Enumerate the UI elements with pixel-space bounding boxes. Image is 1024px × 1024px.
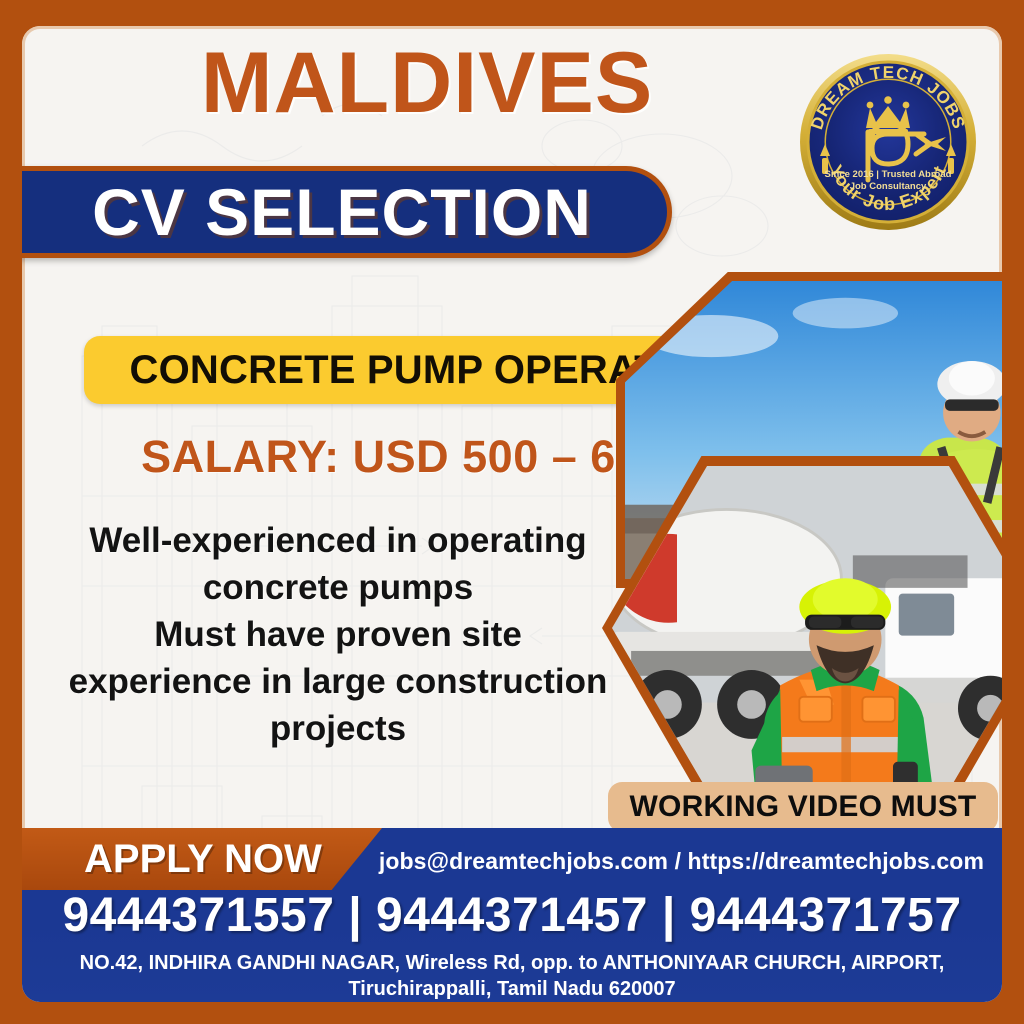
working-video-must-badge: WORKING VIDEO MUST xyxy=(608,782,998,832)
logo-tagline-line-2: Job Consultancy xyxy=(850,181,927,192)
poster-card: MALDIVES CV SELECTION CONCRETE PUMP OPER… xyxy=(22,26,1002,1002)
email-website-line[interactable]: jobs@dreamtechjobs.com / https://dreamte… xyxy=(352,848,984,875)
requirements-block: Well-experienced in operating concrete p… xyxy=(58,518,618,752)
contact-footer: APPLY NOW jobs@dreamtechjobs.com / https… xyxy=(22,828,1002,1002)
requirement-line: projects xyxy=(58,706,618,753)
working-video-must-label: WORKING VIDEO MUST xyxy=(630,790,977,824)
recruitment-poster: MALDIVES CV SELECTION CONCRETE PUMP OPER… xyxy=(0,0,1024,1024)
apply-now-label: APPLY NOW xyxy=(22,839,322,879)
photo-hex-bottom xyxy=(602,456,1002,800)
address-line-2: Tiruchirappalli, Tamil Nadu 620007 xyxy=(52,976,972,1002)
requirement-line: experience in large construction xyxy=(58,659,618,706)
logo-tagline-line-1: Since 2016 | Trusted Abroad xyxy=(825,169,952,180)
office-address: NO.42, INDHIRA GANDHI NAGAR, Wireless Rd… xyxy=(52,950,972,1002)
requirement-line: concrete pumps xyxy=(58,565,618,612)
phone-numbers[interactable]: 9444371557 | 9444371457 | 9444371757 xyxy=(22,890,1002,942)
cv-selection-banner: CV SELECTION xyxy=(22,166,672,258)
requirement-line: Well-experienced in operating xyxy=(58,518,618,565)
apply-now-ribbon[interactable]: APPLY NOW xyxy=(22,828,382,890)
dream-tech-jobs-logo: DREAM TECH JOBS Your Job Expert xyxy=(798,52,978,232)
requirement-line: Must have proven site xyxy=(58,612,618,659)
address-line-1: NO.42, INDHIRA GANDHI NAGAR, Wireless Rd… xyxy=(52,950,972,976)
cv-selection-label: CV SELECTION xyxy=(92,179,592,245)
